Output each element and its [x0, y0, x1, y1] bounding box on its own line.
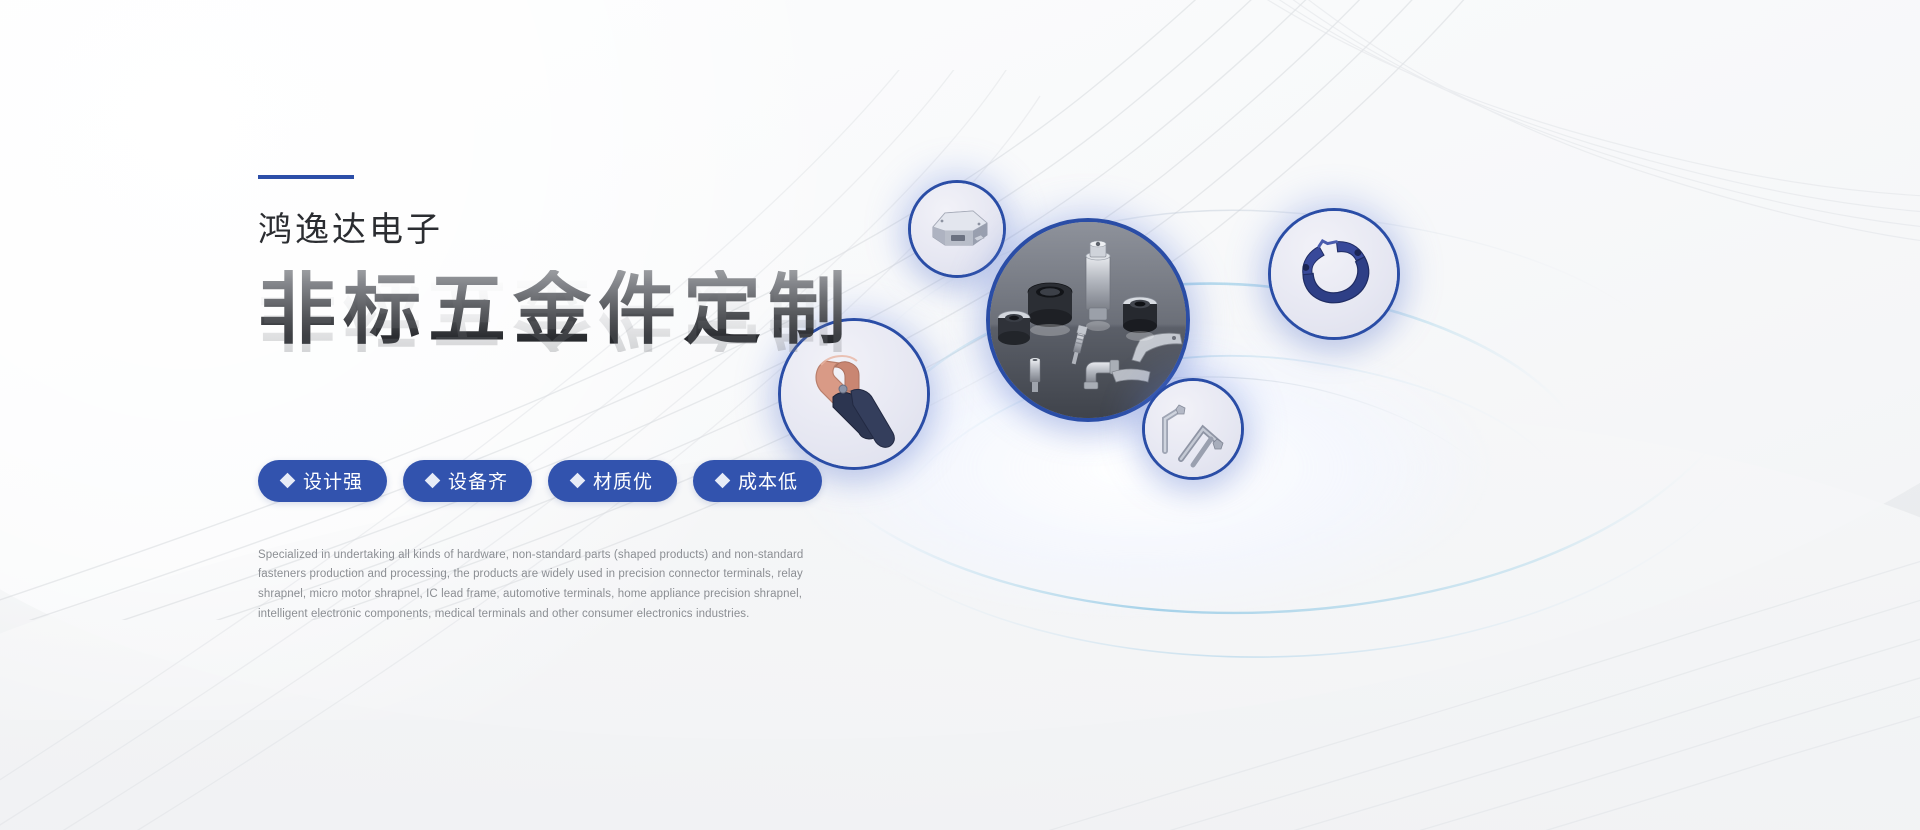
- hex-key-wrenches-icon: [1145, 381, 1241, 477]
- feature-pill-design[interactable]: 设计强: [258, 460, 387, 502]
- diamond-icon: [715, 473, 731, 489]
- retaining-clip-ring-image: [1271, 211, 1397, 337]
- bubble-hex-key-wrenches[interactable]: [1142, 378, 1244, 480]
- feature-pill-equipment[interactable]: 设备齐: [403, 460, 532, 502]
- feature-pill-label: 设计强: [303, 467, 363, 494]
- headline-block: 非标五金件定制 非标五金件定制: [258, 270, 878, 420]
- feature-pill-label: 成本低: [738, 467, 798, 494]
- hex-key-wrenches-image: [1145, 381, 1241, 477]
- feature-pill-row: 设计强 设备齐 材质优 成本低: [258, 460, 878, 502]
- hero-content: 鸿逸达电子 非标五金件定制 非标五金件定制 设计强 设备齐 材质优 成本低: [258, 175, 878, 625]
- diamond-icon: [570, 473, 586, 489]
- feature-pill-cost[interactable]: 成本低: [693, 460, 822, 502]
- retaining-clip-ring-icon: [1271, 211, 1397, 337]
- hero-banner: 鸿逸达电子 非标五金件定制 非标五金件定制 设计强 设备齐 材质优 成本低: [0, 0, 1920, 830]
- feature-pill-material[interactable]: 材质优: [548, 460, 677, 502]
- diamond-icon: [425, 473, 441, 489]
- bubble-retaining-clip-ring[interactable]: [1268, 208, 1400, 340]
- product-visual: [760, 120, 1880, 740]
- diamond-icon: [280, 473, 296, 489]
- description-paragraph: Specialized in undertaking all kinds of …: [258, 546, 818, 625]
- accent-rule: [258, 175, 354, 179]
- feature-pill-label: 设备齐: [448, 467, 508, 494]
- feature-pill-label: 材质优: [593, 467, 653, 494]
- brand-name: 鸿逸达电子: [258, 209, 878, 252]
- page-title: 非标五金件定制: [258, 270, 853, 348]
